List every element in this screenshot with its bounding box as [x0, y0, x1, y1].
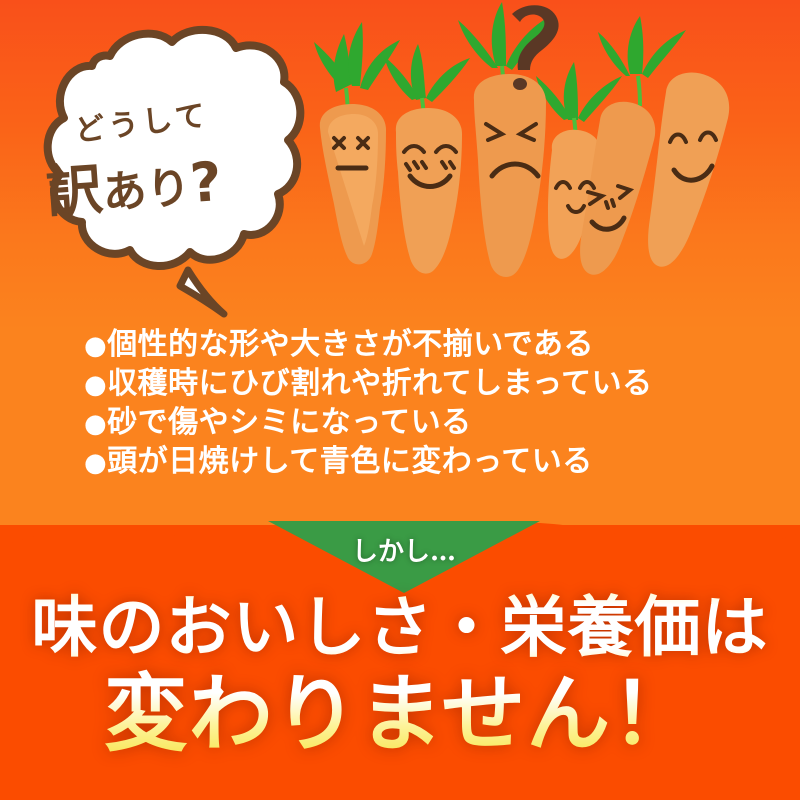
bullet-marker-icon: ●	[84, 448, 107, 478]
bullet-marker-icon: ●	[84, 331, 107, 361]
bullet-marker-icon: ●	[84, 409, 107, 439]
carrot-bodies	[320, 73, 729, 277]
poster-root: どうして 訳あり?	[0, 0, 800, 800]
list-item: ●砂で傷やシミになっている	[84, 404, 724, 443]
list-item-label: 砂で傷やシミになっている	[107, 405, 472, 440]
list-item: ●頭が日焼けして青色に変わっている	[84, 443, 724, 482]
headline-line-2: 変わりません！	[0, 666, 800, 762]
list-item: ●個性的な形や大きさが不揃いである	[84, 326, 724, 365]
carrot-group	[300, 0, 800, 320]
list-item: ●収穫時にひび割れや折れてしまっている	[84, 365, 724, 404]
bullet-marker-icon: ●	[84, 370, 107, 400]
banner-label: しかし…	[268, 531, 540, 568]
transition-banner: しかし…	[268, 521, 540, 593]
headline: 味のおいしさ・栄養価は 変わりません！	[0, 588, 800, 762]
reason-list: ●個性的な形や大きさが不揃いである ●収穫時にひび割れや折れてしまっている ●砂…	[84, 326, 724, 482]
headline-line-1: 味のおいしさ・栄養価は	[0, 588, 800, 666]
list-item-label: 頭が日焼けして青色に変わっている	[107, 444, 593, 479]
list-item-label: 収穫時にひび割れや折れてしまっている	[107, 366, 652, 401]
speech-bubble: どうして 訳あり?	[12, 18, 312, 318]
list-item-label: 個性的な形や大きさが不揃いである	[107, 327, 594, 362]
